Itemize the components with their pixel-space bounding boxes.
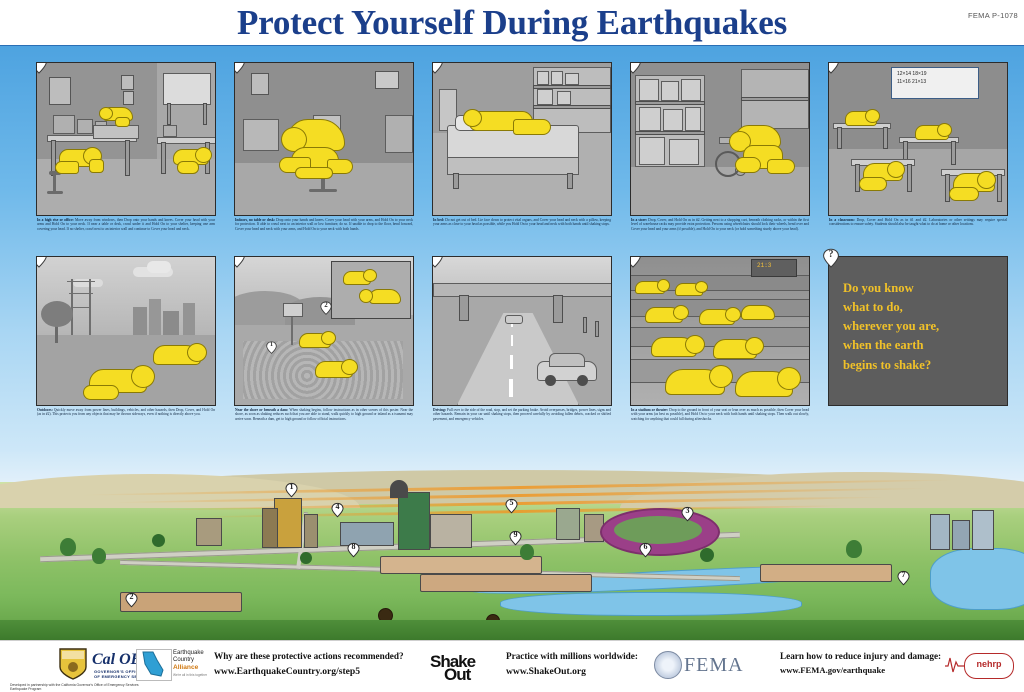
panel-3-caption: In bed: Do not get out of bed. Lie face …	[433, 218, 611, 227]
building-e	[196, 518, 222, 546]
question-panel: ? Do you know what to do, wherever you a…	[828, 256, 1008, 406]
panel-5-caption: In a classroom: Drop, Cover and Hold On …	[829, 218, 1007, 227]
fema-wordmark: FEMA	[684, 654, 744, 677]
bay	[930, 548, 1024, 610]
seismograph-icon	[944, 652, 966, 678]
california-map-icon	[136, 649, 172, 681]
panel-9-caption: In a stadium or theater: Drop to the gro…	[631, 408, 809, 421]
shakeout-message: Practice with millions worldwide:	[506, 651, 638, 661]
panel-3-illustration: 3	[432, 62, 612, 216]
building-a	[262, 508, 278, 548]
suburb-row-2	[420, 574, 592, 592]
eca-question: Why are these protective actions recomme…	[214, 651, 404, 661]
panel-6-outdoors: 6 Outdoors: Quickly move away from power…	[36, 256, 218, 446]
question-panel-badge: ?	[821, 248, 841, 268]
panel-6-badge: 6	[36, 256, 49, 268]
fema-message-block: Learn how to reduce injury and damage: w…	[780, 651, 941, 675]
map-pin-6[interactable]: 6	[638, 542, 653, 558]
shakeout-logo: Shake Out	[430, 652, 502, 682]
map-pin-7[interactable]: 7	[896, 570, 911, 586]
question-line-4: when the earth	[843, 336, 997, 355]
building-f	[556, 508, 580, 540]
shakeout-message-block: Practice with millions worldwide: www.Sh…	[506, 651, 638, 677]
panel-1-high-rise-office: 1 In a high rise or office: Move away fr…	[36, 62, 218, 252]
panel-4-caption: In a store: Drop, Cover, and Hold On as …	[631, 218, 809, 231]
question-line-1: Do you know	[843, 279, 997, 298]
panel-5-badge: 5	[828, 62, 841, 74]
caloes-shield-icon	[58, 647, 88, 681]
question-line-2: what to do,	[843, 298, 997, 317]
suburb-row-1	[380, 556, 542, 574]
tree-3	[152, 534, 165, 547]
panel-7-inset-badge-1: 1	[265, 341, 278, 354]
panel-8-driving: 8 Driving: Pull over to the side of the …	[432, 256, 614, 446]
tree-6	[846, 540, 862, 558]
nehrp-label: nehrp	[965, 659, 1013, 669]
panel-1-caption: In a high rise or office: Move away from…	[37, 218, 215, 231]
shakeout-logo-bottom: Out	[444, 665, 470, 685]
panel-8-badge: 8	[432, 256, 445, 268]
panel-7-inset-badge-2: 2	[319, 301, 333, 315]
building-port-1	[930, 514, 950, 550]
building-port-2	[952, 520, 970, 550]
panel-8-caption: Driving: Pull over to the side of the ro…	[433, 408, 611, 421]
map-pin-1[interactable]: 1	[284, 482, 299, 498]
panel-2-indoors-no-table: 2 Indoors, no table or desk: Drop onto y…	[234, 62, 416, 252]
whiteboard-text: 12×14 18×19 11×16 21×13	[897, 71, 926, 86]
panel-4-in-a-store: 4 In a store: Drop, Cover, and Hold On a…	[630, 62, 812, 252]
eca-logo-block: Earthquake Country Alliance We're all in…	[136, 647, 216, 685]
lake	[500, 592, 802, 616]
tree-2	[92, 548, 106, 564]
building-tower-gold	[274, 498, 302, 548]
tree-4	[520, 544, 534, 560]
panel-3-in-bed: 3 In bed: Do not get out of bed. Lie fac…	[432, 62, 614, 252]
panel-5-in-a-classroom: 12×14 18×19 11×16 21×13	[828, 62, 1010, 252]
fema-message: Learn how to reduce injury and damage:	[780, 651, 941, 661]
panel-7-badge: 7	[234, 256, 247, 268]
panel-5-illustration: 12×14 18×19 11×16 21×13	[828, 62, 1008, 216]
shakeout-url[interactable]: www.ShakeOut.org	[506, 666, 638, 677]
eca-line-3: Alliance	[173, 664, 198, 671]
map-pin-3[interactable]: 3	[680, 506, 695, 522]
tree-1	[60, 538, 76, 556]
tree-7	[300, 552, 312, 564]
eca-tagline: We're all in this together	[173, 673, 207, 677]
fema-seal-icon	[654, 651, 682, 679]
panel-7-near-shore-or-dam: 2 1 7 Near the shore or be	[234, 256, 416, 446]
shakeout-block: Shake Out Practice with millions worldwi…	[430, 649, 670, 685]
panel-6-caption: Outdoors: Quickly move away from power l…	[37, 408, 215, 417]
nehrp-logo: nehrp	[964, 653, 1014, 679]
nehrp-block: nehrp	[944, 649, 1016, 681]
panel-2-illustration: 2	[234, 62, 414, 216]
panel-1-illustration: 1	[36, 62, 216, 216]
panel-7-illustration: 2 1 7	[234, 256, 414, 406]
question-line-5: begins to shake?	[843, 356, 997, 375]
panel-2-badge: 2	[234, 62, 247, 74]
map-pin-9[interactable]: 9	[508, 530, 523, 546]
eca-message-block: Why are these protective actions recomme…	[214, 651, 404, 677]
eca-line-1: Earthquake	[173, 650, 204, 656]
building-green-tower	[398, 492, 430, 550]
map-pin-8[interactable]: 8	[346, 542, 361, 558]
eca-url[interactable]: www.EarthquakeCountry.org/step5	[214, 666, 404, 677]
panel-1-badge: 1	[36, 62, 49, 74]
panel-2-caption: Indoors, no table or desk: Drop onto you…	[235, 218, 413, 231]
tree-5	[700, 548, 714, 562]
publication-number: FEMA P-1078	[968, 11, 1018, 20]
building-port-3	[972, 510, 994, 550]
footer: Cal OES GOVERNOR'S OFFICE OF EMERGENCY S…	[0, 640, 1024, 692]
page-title: Protect Yourself During Earthquakes	[0, 3, 1024, 43]
panel-9-illustration: 21:3 9	[630, 256, 810, 406]
panel-6-illustration: 6	[36, 256, 216, 406]
fema-url[interactable]: www.FEMA.gov/earthquake	[780, 665, 941, 675]
poster: Protect Yourself During Earthquakes FEMA…	[0, 0, 1024, 691]
panel-8-illustration: 8	[432, 256, 612, 406]
title-bar: Protect Yourself During Earthquakes FEMA…	[0, 0, 1024, 46]
panel-9-badge: 9	[630, 256, 643, 268]
map-pin-5[interactable]: 5	[504, 498, 519, 514]
building-c	[430, 514, 472, 548]
panel-7-caption: Near the shore or beneath a dam: When sh…	[235, 408, 413, 421]
building-b	[304, 514, 318, 548]
eca-line-2: Country	[173, 657, 194, 663]
panel-4-illustration: 4	[630, 62, 810, 216]
map-pin-2[interactable]: 2	[124, 592, 139, 608]
suburb-row-4	[760, 564, 892, 582]
city-illustration: 1 2 3 4 5 6 7 8	[0, 452, 1024, 640]
question-panel-text: Do you know what to do, wherever you are…	[843, 279, 997, 375]
panel-9-stadium-or-theater: 21:3 9	[630, 256, 812, 446]
building-dome	[390, 480, 408, 498]
foreground-grass	[0, 620, 1024, 640]
map-pin-4[interactable]: 4	[330, 502, 345, 518]
question-line-3: wherever you are,	[843, 317, 997, 336]
fema-block: FEMA Learn how to reduce injury and dama…	[654, 647, 954, 685]
panel-3-badge: 3	[432, 62, 445, 74]
panel-4-badge: 4	[630, 62, 643, 74]
